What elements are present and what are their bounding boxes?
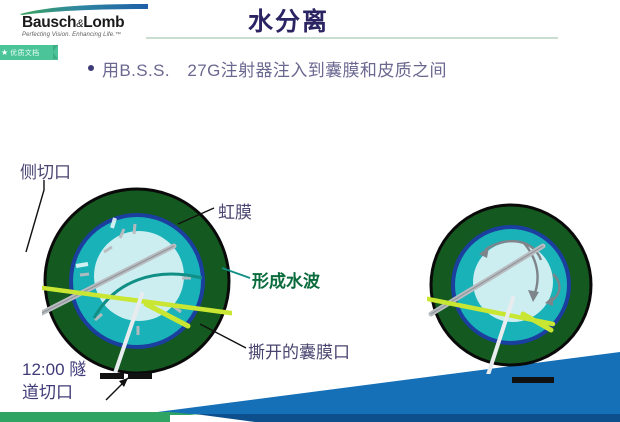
left-eye-graphic [42,186,232,378]
label-side-incision: 侧切口 [20,158,71,183]
logo-brandname: Bausch&Lomb [22,14,124,32]
left-eye-diagram [42,186,232,378]
bullet-marker-icon [88,65,94,71]
star-icon: ★ [1,49,8,57]
bausch-lomb-logo: Bausch&Lomb Perfecting Vision. Enhancing… [14,4,154,44]
tunnel-incision-marker-right [512,374,556,386]
page-title: 水分离 [248,2,329,38]
label-tunnel-line2: 道切口 [22,381,86,404]
tunnel-incision-marker-left [100,370,160,382]
label-torn-capsule: 撕开的囊膜口 [248,338,350,363]
badge-label: 优质文档 [10,48,39,58]
label-tunnel-line1: 12:00 隧 [22,358,86,381]
right-eye-graphic [427,202,597,374]
logo-brand-lomb: Lomb [83,14,124,31]
label-iris: 虹膜 [218,198,252,223]
slide-canvas: Bausch&Lomb Perfecting Vision. Enhancing… [0,0,620,422]
right-eye-diagram [427,202,597,374]
quality-doc-badge: ★ 优质文档 [0,45,58,60]
title-divider [146,37,558,39]
bullet-item: 用B.S.S. 27G注射器注入到囊膜和皮质之间 [88,56,447,81]
label-tunnel-incision: 12:00 隧 道切口 [22,358,86,404]
bullet-text: 用B.S.S. 27G注射器注入到囊膜和皮质之间 [102,56,447,81]
logo-tagline: Perfecting Vision. Enhancing Life.™ [22,32,121,38]
logo-brand-bausch: Bausch [22,14,76,31]
label-water-wave: 形成水波 [252,267,320,292]
